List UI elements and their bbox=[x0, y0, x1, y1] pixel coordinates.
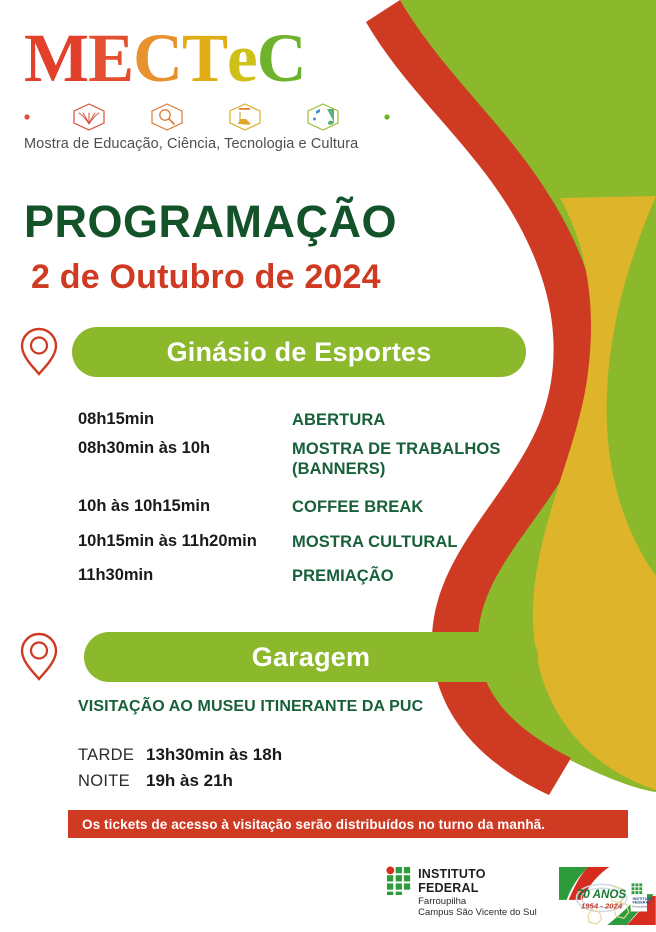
shift-label: NOITE bbox=[78, 772, 146, 791]
footer-logos: INSTITUTO FEDERAL Farroupilha Campus São… bbox=[386, 866, 656, 926]
ticket-notice-text: Os tickets de acesso à visitação serão d… bbox=[82, 817, 545, 832]
shift-list: TARDE 13h30min às 18h NOITE 19h às 21h bbox=[78, 745, 282, 797]
table-row: 08h30min às 10h MOSTRA DE TRABALHOS (BAN… bbox=[78, 439, 558, 479]
schedule-time: 10h às 10h15min bbox=[78, 497, 292, 516]
book-hexagon-icon bbox=[74, 104, 104, 130]
venue-row-ginasio: Ginásio de Esportes bbox=[18, 326, 526, 378]
table-row: 10h às 10h15min COFFEE BREAK bbox=[78, 497, 558, 517]
venue-name: Garagem bbox=[252, 642, 370, 673]
shift-time: 19h às 21h bbox=[146, 771, 233, 791]
70-anos-seal-icon: 70 ANOS 1954 - 2024 INSTITUTO FEDERAL Fa… bbox=[559, 866, 656, 926]
institute-name: INSTITUTO FEDERAL bbox=[418, 868, 545, 896]
mectec-logo: MECTeC bbox=[24, 26, 424, 152]
table-row: 08h15min ABERTURA bbox=[78, 410, 558, 430]
svg-text:70 ANOS: 70 ANOS bbox=[577, 888, 626, 901]
instituto-federal-logo: INSTITUTO FEDERAL Farroupilha Campus São… bbox=[386, 866, 545, 919]
schedule-time: 08h30min às 10h bbox=[78, 439, 292, 458]
schedule-time: 08h15min bbox=[78, 410, 292, 429]
venue-pill-garagem[interactable]: Garagem bbox=[84, 632, 538, 682]
shift-label: TARDE bbox=[78, 746, 146, 765]
logo-tagline: Mostra de Educação, Ciência, Tecnologia … bbox=[24, 136, 424, 152]
logo-letter-m: M bbox=[24, 26, 88, 92]
instituto-federal-text: INSTITUTO FEDERAL Farroupilha Campus São… bbox=[418, 866, 545, 919]
instituto-federal-grid-icon bbox=[386, 866, 411, 896]
shift-time: 13h30min às 18h bbox=[146, 745, 282, 765]
event-date: 2 de Outubro de 2024 bbox=[31, 258, 381, 297]
venue-row-garagem: Garagem bbox=[18, 631, 538, 683]
logo-letter-c1: C bbox=[133, 26, 182, 92]
list-item: TARDE 13h30min às 18h bbox=[78, 745, 282, 765]
page-title: PROGRAMAÇÃO bbox=[24, 196, 397, 248]
logo-letter-e2: e bbox=[227, 26, 257, 92]
svg-text:Farroupilha: Farroupilha bbox=[633, 905, 648, 909]
schedule-list: 08h15min ABERTURA 08h30min às 10h MOSTRA… bbox=[78, 410, 558, 595]
svg-text:1954 - 2024: 1954 - 2024 bbox=[581, 902, 623, 911]
institute-unit: Farroupilha bbox=[418, 896, 545, 908]
list-item: NOITE 19h às 21h bbox=[78, 771, 282, 791]
logo-letter-c2: C bbox=[257, 26, 306, 92]
poster-root: MECTeC bbox=[0, 0, 656, 932]
logo-letter-e: E bbox=[88, 26, 133, 92]
venue-name: Ginásio de Esportes bbox=[167, 337, 432, 368]
music-hexagon-icon bbox=[308, 104, 338, 130]
schedule-activity: MOSTRA DE TRABALHOS (BANNERS) bbox=[292, 439, 500, 479]
flask-hexagon-icon bbox=[230, 104, 260, 130]
map-pin-icon bbox=[18, 326, 60, 378]
schedule-activity: ABERTURA bbox=[292, 410, 385, 430]
venue-pill-ginasio[interactable]: Ginásio de Esportes bbox=[72, 327, 526, 377]
institute-campus: Campus São Vicente do Sul bbox=[418, 907, 545, 919]
magnifier-hexagon-icon bbox=[152, 104, 182, 130]
schedule-time: 11h30min bbox=[78, 566, 292, 585]
logo-icon-rule bbox=[24, 100, 390, 134]
ticket-notice-banner: Os tickets de acesso à visitação serão d… bbox=[68, 810, 628, 838]
schedule-activity: COFFEE BREAK bbox=[292, 497, 423, 517]
logo-letter-t: T bbox=[182, 26, 227, 92]
table-row: 11h30min PREMIAÇÃO bbox=[78, 566, 558, 586]
garage-visit-note: VISITAÇÃO AO MUSEU ITINERANTE DA PUC bbox=[78, 698, 423, 716]
schedule-time: 10h15min às 11h20min bbox=[78, 532, 292, 551]
table-row: 10h15min às 11h20min MOSTRA CULTURAL bbox=[78, 532, 558, 552]
map-pin-icon bbox=[18, 631, 60, 683]
schedule-activity: MOSTRA CULTURAL bbox=[292, 532, 458, 552]
logo-wordmark: MECTeC bbox=[24, 26, 424, 92]
schedule-activity: PREMIAÇÃO bbox=[292, 566, 394, 586]
